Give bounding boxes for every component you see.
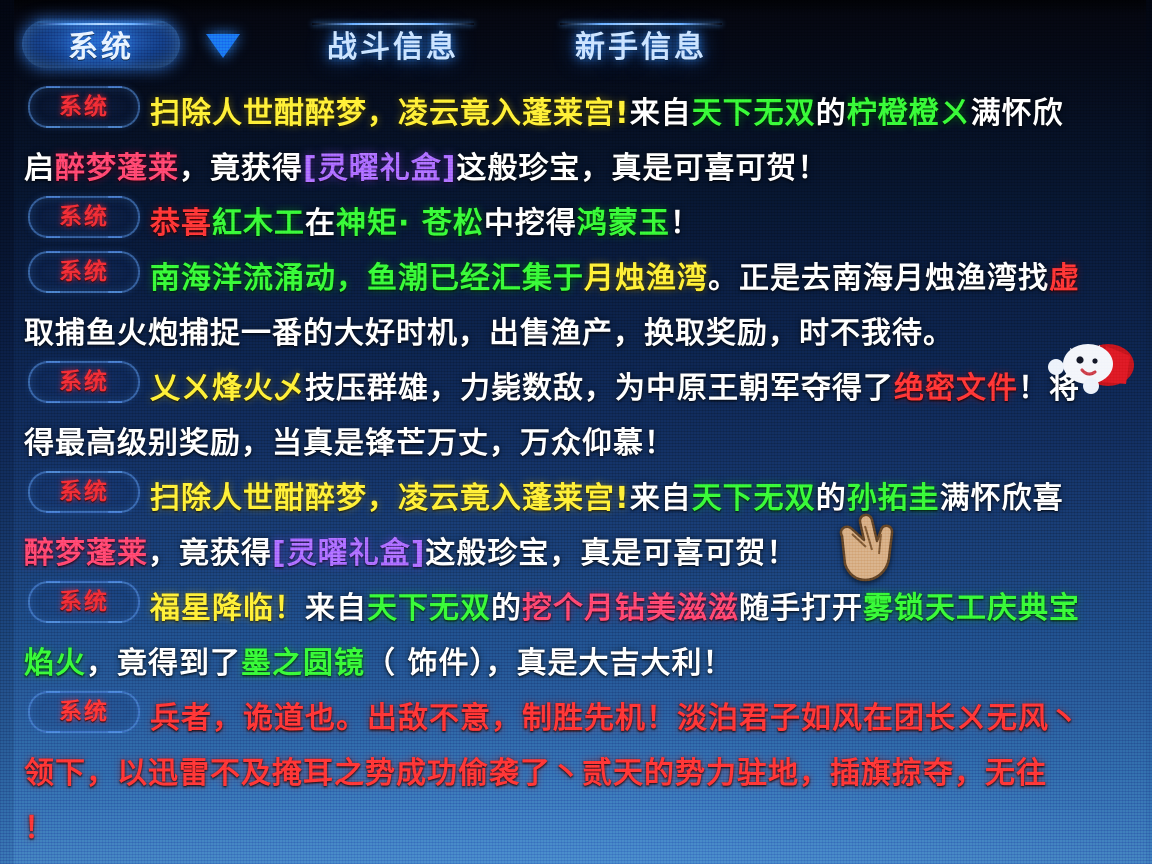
tab-newbie[interactable]: 新手信息: [540, 20, 742, 68]
message-text-segment: 月烛渔湾: [584, 261, 708, 296]
message-first-line: 系统南海洋流涌动，鱼潮已经汇集于月烛渔湾。正是去南海月烛渔湾找虚: [0, 251, 1152, 306]
chat-message[interactable]: 系统恭喜紅木工在神矩· 苍松中挖得鸿蒙玉！: [0, 196, 1152, 251]
message-text-segment: 在: [305, 206, 336, 241]
message-text-segment: 恭喜: [150, 206, 212, 241]
message-text-segment: 乂ㄨ烽火乄: [150, 371, 305, 406]
chat-message[interactable]: 系统扫除人世酣醉梦，凌云竟入蓬莱宫!来自天下无双的柠橙橙ㄨ满怀欣启醉梦蓬莱，竟获…: [0, 86, 1152, 196]
tab-battle[interactable]: 战斗信息: [292, 20, 494, 68]
message-text-segment: 墨之圆镜: [241, 646, 365, 681]
message-text-segment: 挖个月钻美滋滋: [522, 591, 739, 626]
tab-newbie-underline: [560, 23, 722, 25]
system-badge[interactable]: 系统: [28, 691, 140, 733]
message-text-segment: 的: [491, 591, 522, 626]
message-text-segment: 来自: [305, 591, 367, 626]
message-text-segment: 的: [816, 481, 847, 516]
message-first-line: 系统扫除人世酣醉梦，凌云竟入蓬莱宫!来自天下无双的孙拓圭满怀欣喜: [0, 471, 1152, 526]
message-text-segment: 这般珍宝，真是可喜可贺！: [456, 151, 828, 186]
message-text-segment: ！: [670, 206, 701, 241]
message-wrap-line: 焰火，竟得到了墨之圆镜（ 饰件），真是大吉大利！: [0, 636, 1152, 691]
tab-system-underline: [38, 23, 164, 25]
message-text-segment: 扫除人世酣醉梦，凌云竟入蓬莱宫!: [150, 481, 630, 516]
message-text-segment: 鱼潮已经汇集于: [367, 261, 584, 296]
system-badge[interactable]: 系统: [28, 471, 140, 513]
system-badge[interactable]: 系统: [28, 251, 140, 293]
chat-message[interactable]: 系统乂ㄨ烽火乄技压群雄，力毙数敌，为中原王朝军夺得了绝密文件！将得最高级别奖励，…: [0, 361, 1152, 471]
message-text-segment: ！: [24, 811, 55, 846]
system-badge[interactable]: 系统: [28, 196, 140, 238]
message-first-line: 系统乂ㄨ烽火乄技压群雄，力毙数敌，为中原王朝军夺得了绝密文件！将: [0, 361, 1152, 416]
chat-message[interactable]: 系统兵者，诡道也。出敌不意，制胜先机！淡泊君子如风在团长ㄨ无风丶领下，以迅雷不及…: [0, 691, 1152, 856]
message-text-segment: 鸿蒙玉: [577, 206, 670, 241]
message-text-segment: 的: [816, 96, 847, 131]
message-text-segment: 启: [24, 151, 55, 186]
message-wrap-line: 启醉梦蓬莱，竟获得[灵曜礼盒]这般珍宝，真是可喜可贺！: [0, 141, 1152, 196]
message-text-segment: 醉梦蓬莱: [24, 536, 148, 571]
chat-message[interactable]: 系统扫除人世酣醉梦，凌云竟入蓬莱宫!来自天下无双的孙拓圭满怀欣喜醉梦蓬莱，竟获得…: [0, 471, 1152, 581]
message-text-segment: 。正是去南海月烛渔湾找: [708, 261, 1049, 296]
message-wrap-line: 取捕鱼火炮捕捉一番的大好时机，出售渔产，换取奖励，时不我待。: [0, 306, 1152, 361]
message-text-segment: [灵曜礼盒]: [272, 536, 425, 571]
game-chat-window: 系统 战斗信息 新手信息 系统扫除人世酣醉梦，凌云竟入蓬莱宫!来自天下无双的柠橙…: [0, 0, 1152, 864]
message-text-segment: ，竟获得: [148, 536, 272, 571]
chat-tab-bar: 系统 战斗信息 新手信息: [0, 8, 1152, 82]
message-text-segment: 满怀欣喜: [940, 481, 1064, 516]
chevron-down-icon[interactable]: [206, 34, 240, 58]
message-first-line: 系统兵者，诡道也。出敌不意，制胜先机！淡泊君子如风在团长ㄨ无风丶: [0, 691, 1152, 746]
tab-newbie-label: 新手信息: [575, 22, 707, 66]
message-wrap-line: 醉梦蓬莱，竟获得[灵曜礼盒]这般珍宝，真是可喜可贺！: [0, 526, 1152, 581]
tab-battle-label: 战斗信息: [327, 22, 459, 66]
message-text-segment: 技压群雄，力毙数敌，为中原王朝军夺得了: [305, 371, 894, 406]
message-text-segment: [灵曜礼盒]: [303, 151, 456, 186]
message-text-segment: 神矩· 苍松: [336, 206, 484, 241]
system-badge[interactable]: 系统: [28, 581, 140, 623]
message-wrap-line: 领下，以迅雷不及掩耳之势成功偷袭了丶贰天的势力驻地，插旗掠夺，无往: [0, 746, 1152, 801]
message-text-segment: 来自: [630, 96, 692, 131]
message-first-line: 系统恭喜紅木工在神矩· 苍松中挖得鸿蒙玉！: [0, 196, 1152, 251]
message-text-segment: 随手打开: [739, 591, 863, 626]
message-first-line: 系统福星降临！来自天下无双的挖个月钻美滋滋随手打开雾锁天工庆典宝: [0, 581, 1152, 636]
chat-message[interactable]: 系统南海洋流涌动，鱼潮已经汇集于月烛渔湾。正是去南海月烛渔湾找虚取捕鱼火炮捕捉一…: [0, 251, 1152, 361]
system-badge[interactable]: 系统: [28, 86, 140, 128]
message-text-segment: 扫除人世酣醉梦，凌云竟入蓬莱宫!: [150, 96, 630, 131]
message-text-segment: 柠橙橙ㄨ: [847, 96, 971, 131]
message-text-segment: 兵者，诡道也。出敌不意，制胜先机！淡泊君子如风在团长ㄨ无风丶: [150, 701, 1080, 736]
message-text-segment: 得最高级别奖励，当真是锋芒万丈，万众仰慕！: [24, 426, 675, 461]
message-text-segment: 来自: [630, 481, 692, 516]
chat-message-list[interactable]: 系统扫除人世酣醉梦，凌云竟入蓬莱宫!来自天下无双的柠橙橙ㄨ满怀欣启醉梦蓬莱，竟获…: [0, 86, 1152, 864]
tab-system-label: 系统: [68, 22, 134, 66]
message-text-segment: 满怀欣: [971, 96, 1064, 131]
message-text-segment: 领下，以迅雷不及掩耳之势成功偷袭了丶贰天的势力驻地，插旗掠夺，无往: [24, 756, 1047, 791]
message-text-segment: 天下无双: [692, 481, 816, 516]
message-text-segment: 焰火: [24, 646, 86, 681]
message-text-segment: 雾锁天工庆典宝: [863, 591, 1080, 626]
message-text-segment: 中挖得: [484, 206, 577, 241]
tab-battle-underline: [312, 23, 474, 25]
message-text-segment: 天下无双: [367, 591, 491, 626]
message-text-segment: 南海洋流涌动，: [150, 261, 367, 296]
chat-message[interactable]: 系统福星降临！来自天下无双的挖个月钻美滋滋随手打开雾锁天工庆典宝焰火，竟得到了墨…: [0, 581, 1152, 691]
tab-system[interactable]: 系统: [22, 20, 180, 68]
message-wrap-line: 得最高级别奖励，当真是锋芒万丈，万众仰慕！: [0, 416, 1152, 471]
message-text-segment: 醉梦蓬莱: [55, 151, 179, 186]
message-text-segment: 天下无双: [692, 96, 816, 131]
message-text-segment: 虚: [1049, 261, 1080, 296]
message-text-segment: 取捕鱼火炮捕捉一番的大好时机，出售渔产，换取奖励，时不我待。: [24, 316, 954, 351]
message-wrap-line: ！: [0, 801, 1152, 856]
message-text-segment: ，竟获得: [179, 151, 303, 186]
message-text-segment: ！将: [1018, 371, 1080, 406]
message-text-segment: 紅木工: [212, 206, 305, 241]
message-text-segment: 这般珍宝，真是可喜可贺！: [425, 536, 797, 571]
message-text-segment: （ 饰件），真是大吉大利！: [365, 646, 733, 681]
message-first-line: 系统扫除人世酣醉梦，凌云竟入蓬莱宫!来自天下无双的柠橙橙ㄨ满怀欣: [0, 86, 1152, 141]
message-text-segment: ，竟得到了: [86, 646, 241, 681]
message-text-segment: 福星降临！: [150, 591, 305, 626]
message-text-segment: 绝密文件: [894, 371, 1018, 406]
system-badge[interactable]: 系统: [28, 361, 140, 403]
message-text-segment: 孙拓圭: [847, 481, 940, 516]
